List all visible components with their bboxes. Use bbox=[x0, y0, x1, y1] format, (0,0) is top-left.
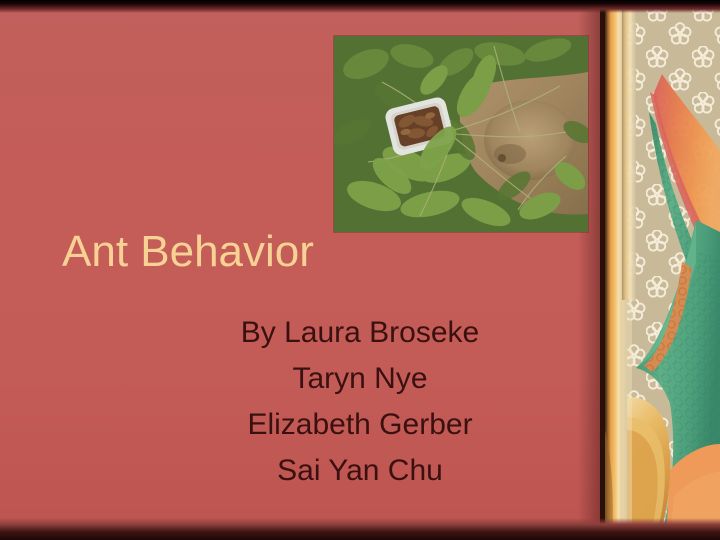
decorative-border-art bbox=[600, 0, 720, 540]
field-experiment-photo bbox=[334, 36, 588, 232]
author-line-1: By Laura Broseke bbox=[160, 310, 560, 356]
author-line-2: Taryn Nye bbox=[160, 356, 560, 402]
slide-subtitle-authors: By Laura Broseke Taryn Nye Elizabeth Ger… bbox=[160, 310, 560, 494]
slide-bottom-edge-shadow bbox=[0, 518, 720, 540]
slide-title: Ant Behavior bbox=[62, 227, 362, 277]
author-line-4: Sai Yan Chu bbox=[160, 448, 560, 494]
slide-top-edge-shadow bbox=[0, 0, 720, 13]
author-line-3: Elizabeth Gerber bbox=[160, 402, 560, 448]
presentation-slide: Ant Behavior By Laura Broseke Taryn Nye … bbox=[0, 0, 720, 540]
